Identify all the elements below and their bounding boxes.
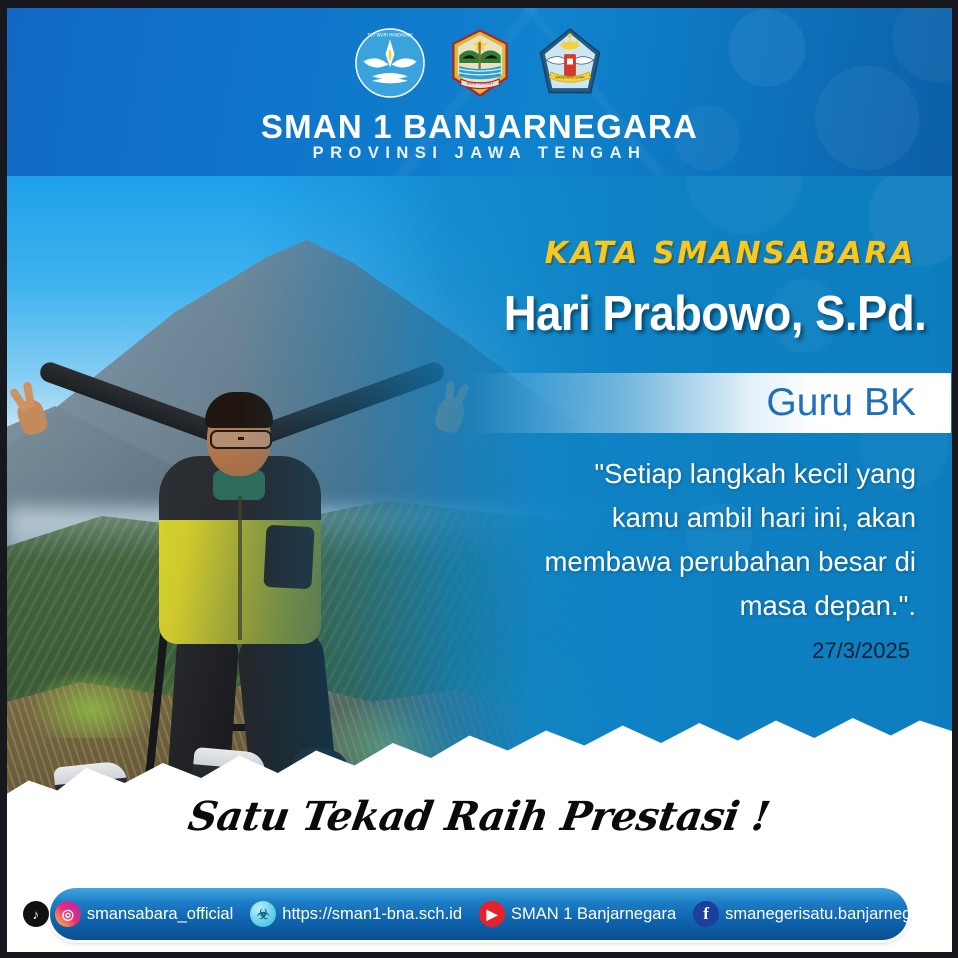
quote-text: "Setiap langkah kecil yang kamu ambil ha…: [536, 452, 916, 628]
logo-row: TUT WURI HANDAYANI JAWA TENGAH: [7, 26, 952, 100]
youtube-channel[interactable]: SMAN 1 Banjarnegara: [511, 905, 676, 924]
website-url[interactable]: https://sman1-bna.sch.id: [282, 905, 462, 924]
jawa-tengah-emblem: JAWA TENGAH: [443, 26, 517, 100]
svg-text:TUT WURI HANDAYANI: TUT WURI HANDAYANI: [366, 32, 412, 37]
person-name: Hari Prabowo, S.Pd.: [504, 286, 926, 342]
youtube-icon[interactable]: ▶: [479, 901, 505, 927]
social-media-bar: ♪ ◎ smansabara_official ☣ https://sman1-…: [50, 888, 908, 940]
header-banner: TUT WURI HANDAYANI JAWA TENGAH: [7, 8, 952, 176]
globe-icon[interactable]: ☣: [250, 901, 276, 927]
school-name: SMAN 1 BANJARNEGARA: [7, 108, 952, 146]
tiktok-icon[interactable]: ♪: [23, 901, 49, 927]
svg-text:JAWA TENGAH: JAWA TENGAH: [466, 81, 493, 85]
sman1-banjarnegara-emblem: BANJARNEGARA: [533, 26, 607, 100]
eyebrow-label: KATA SMANSABARA: [545, 236, 916, 271]
instagram-icon[interactable]: ◎: [55, 901, 81, 927]
school-tagline: Satu Tekad Raih Prestasi !: [0, 793, 958, 840]
frame-bottom: [0, 952, 958, 958]
social-item-tiktok-instagram[interactable]: ♪ ◎ smansabara_official: [23, 901, 233, 927]
role-label: Guru BK: [766, 381, 916, 425]
instagram-handle[interactable]: smansabara_official: [87, 905, 233, 924]
facebook-icon[interactable]: f: [693, 901, 719, 927]
frame-right: [952, 0, 958, 958]
frame-left: [0, 0, 7, 958]
quote-date: 27/3/2025: [812, 638, 910, 664]
province-name: PROVINSI JAWA TENGAH: [7, 144, 952, 163]
frame-top: [0, 0, 958, 8]
tut-wuri-handayani-logo: TUT WURI HANDAYANI: [353, 26, 427, 100]
social-item-facebook[interactable]: f smanegerisatu.banjarnegara: [693, 901, 935, 927]
social-item-website[interactable]: ☣ https://sman1-bna.sch.id: [250, 901, 462, 927]
facebook-handle[interactable]: smanegerisatu.banjarnegara: [725, 905, 935, 924]
svg-text:BANJARNEGARA: BANJARNEGARA: [555, 76, 585, 80]
social-item-youtube[interactable]: ▶ SMAN 1 Banjarnegara: [479, 901, 676, 927]
poster-root: TUT WURI HANDAYANI JAWA TENGAH: [0, 0, 958, 958]
